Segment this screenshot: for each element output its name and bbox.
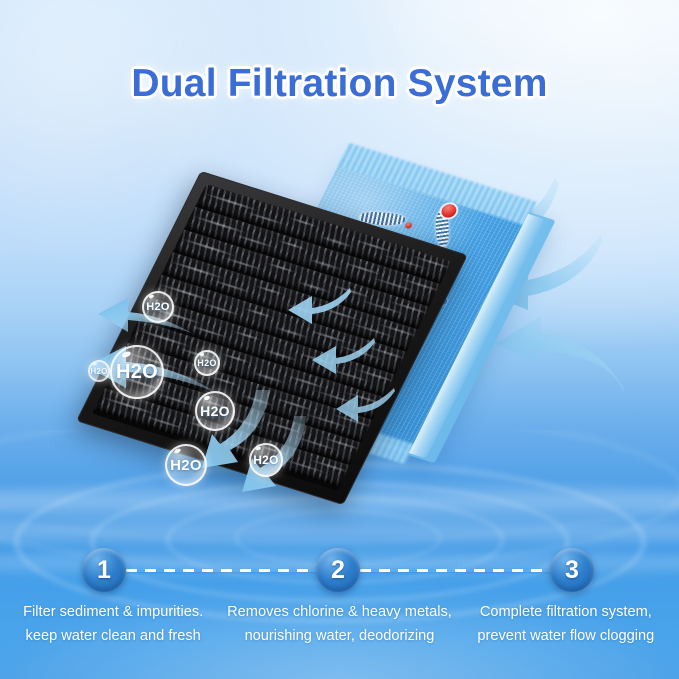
- transfer-arrow-1: [286, 286, 352, 326]
- step-captions: Filter sediment & impurities. keep water…: [0, 600, 679, 648]
- h2o-bubble: H2O: [88, 360, 110, 382]
- step-caption-1: Filter sediment & impurities. keep water…: [0, 600, 226, 648]
- infographic-canvas: Dual Filtration System: [0, 0, 679, 679]
- step-badge-2[interactable]: 2: [316, 548, 360, 592]
- step-caption-2: Removes chlorine & heavy metals, nourish…: [226, 600, 452, 648]
- transfer-arrow-3: [334, 386, 396, 424]
- h2o-bubble: H2O: [110, 345, 164, 399]
- h2o-bubble: H2O: [249, 443, 283, 477]
- h2o-bubble: H2O: [165, 444, 207, 486]
- step-connector-1: [126, 569, 322, 572]
- step-connector-2: [360, 569, 556, 572]
- h2o-bubble: H2O: [142, 291, 174, 323]
- transfer-arrow-2: [310, 336, 376, 376]
- step-badge-3[interactable]: 3: [550, 548, 594, 592]
- step-badge-row: 1 2 3: [0, 548, 679, 596]
- h2o-bubble: H2O: [194, 350, 220, 376]
- step-badge-1[interactable]: 1: [82, 548, 126, 592]
- steps-section: 1 2 3 Filter sediment & impurities. keep…: [0, 548, 679, 679]
- h2o-bubble: H2O: [195, 391, 235, 431]
- step-caption-3: Complete filtration system, prevent wate…: [453, 600, 679, 648]
